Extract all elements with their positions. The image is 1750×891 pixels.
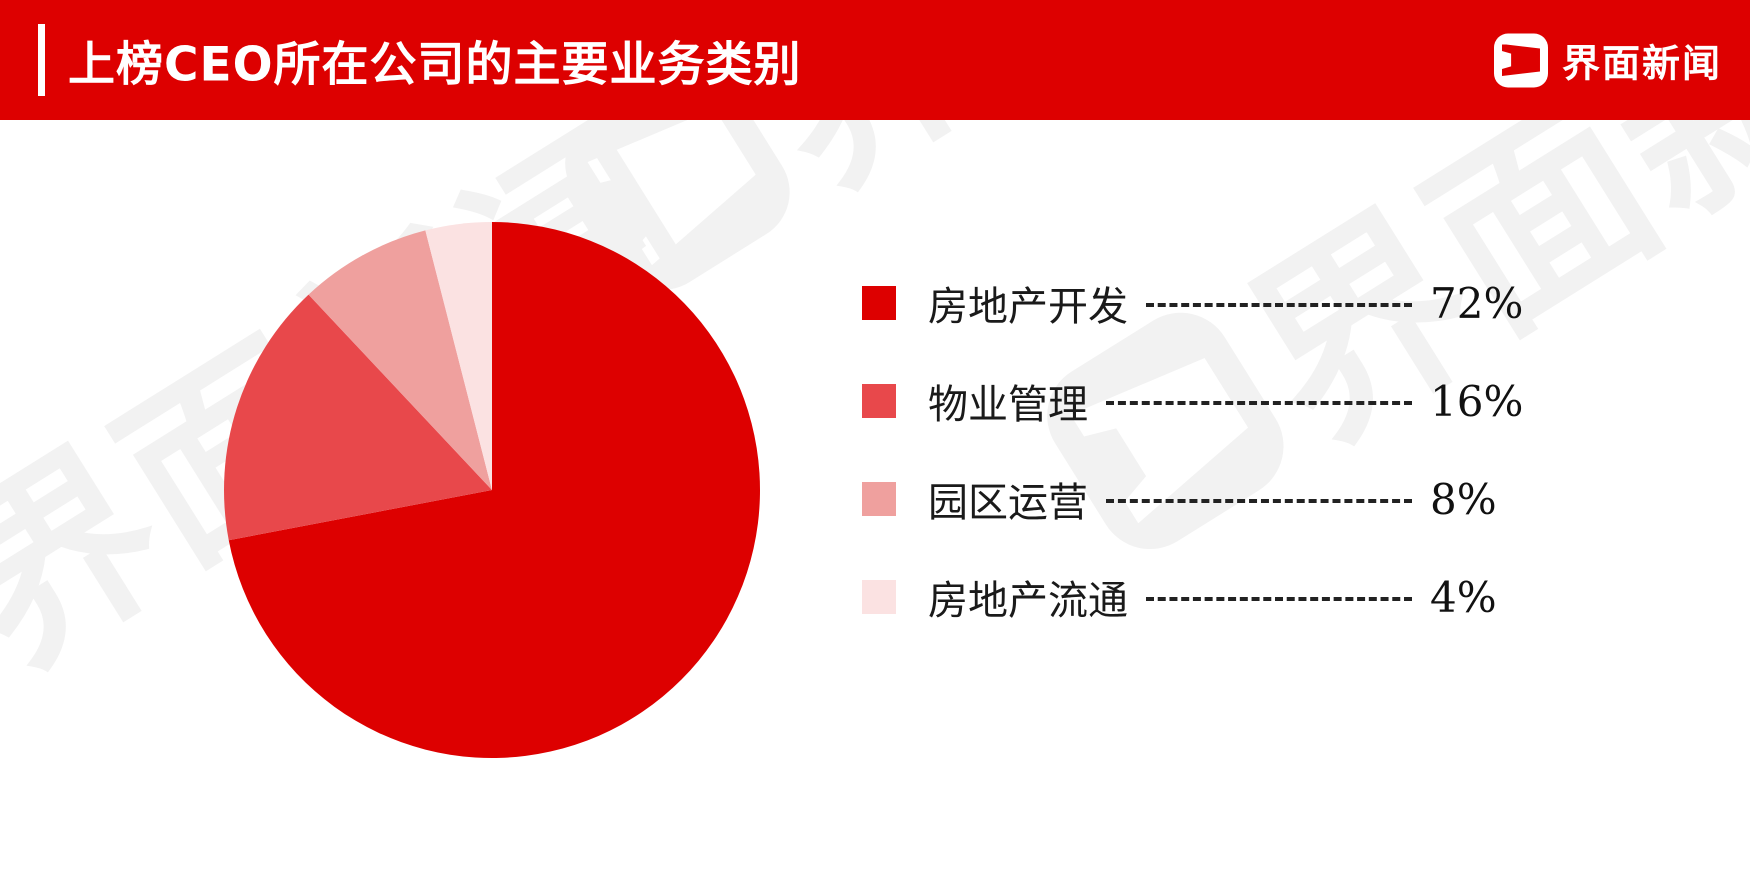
chart-area: 房地产开发72%物业管理16%园区运营8%房地产流通4% (0, 120, 1750, 891)
legend-value: 72% (1430, 279, 1562, 328)
infographic-root: 界面新闻 界面新闻 界面新闻 界面新闻 上榜CEO所在公司的主要业务类别 界面新… (0, 0, 1750, 891)
legend-item[interactable]: 物业管理16% (862, 378, 1562, 424)
legend-leader-line (1106, 401, 1412, 405)
legend-color-swatch (862, 286, 896, 320)
legend-leader-line (1106, 499, 1412, 503)
legend-value: 8% (1430, 475, 1562, 524)
page-header: 上榜CEO所在公司的主要业务类别 界面新闻 (0, 0, 1750, 120)
pie-chart (222, 220, 762, 760)
pie-chart-svg (222, 220, 762, 760)
legend-value: 4% (1430, 573, 1562, 622)
legend-label: 房地产开发 (928, 274, 1128, 332)
legend-item[interactable]: 房地产开发72% (862, 280, 1562, 326)
legend-item[interactable]: 房地产流通4% (862, 574, 1562, 620)
brand-name: 界面新闻 (1562, 33, 1722, 88)
brand-lockup[interactable]: 界面新闻 (1494, 33, 1722, 88)
legend-label: 园区运营 (928, 470, 1088, 528)
legend-value: 16% (1430, 377, 1562, 426)
header-accent-bar (38, 24, 45, 96)
jiemian-bowtie-logo-icon (1494, 33, 1548, 87)
legend-leader-line (1146, 597, 1412, 601)
legend-leader-line (1146, 303, 1412, 307)
page-title: 上榜CEO所在公司的主要业务类别 (68, 26, 802, 95)
legend-color-swatch (862, 482, 896, 516)
chart-legend: 房地产开发72%物业管理16%园区运营8%房地产流通4% (862, 280, 1562, 620)
legend-color-swatch (862, 384, 896, 418)
legend-label: 房地产流通 (928, 568, 1128, 626)
legend-color-swatch (862, 580, 896, 614)
legend-label: 物业管理 (928, 372, 1088, 430)
legend-item[interactable]: 园区运营8% (862, 476, 1562, 522)
